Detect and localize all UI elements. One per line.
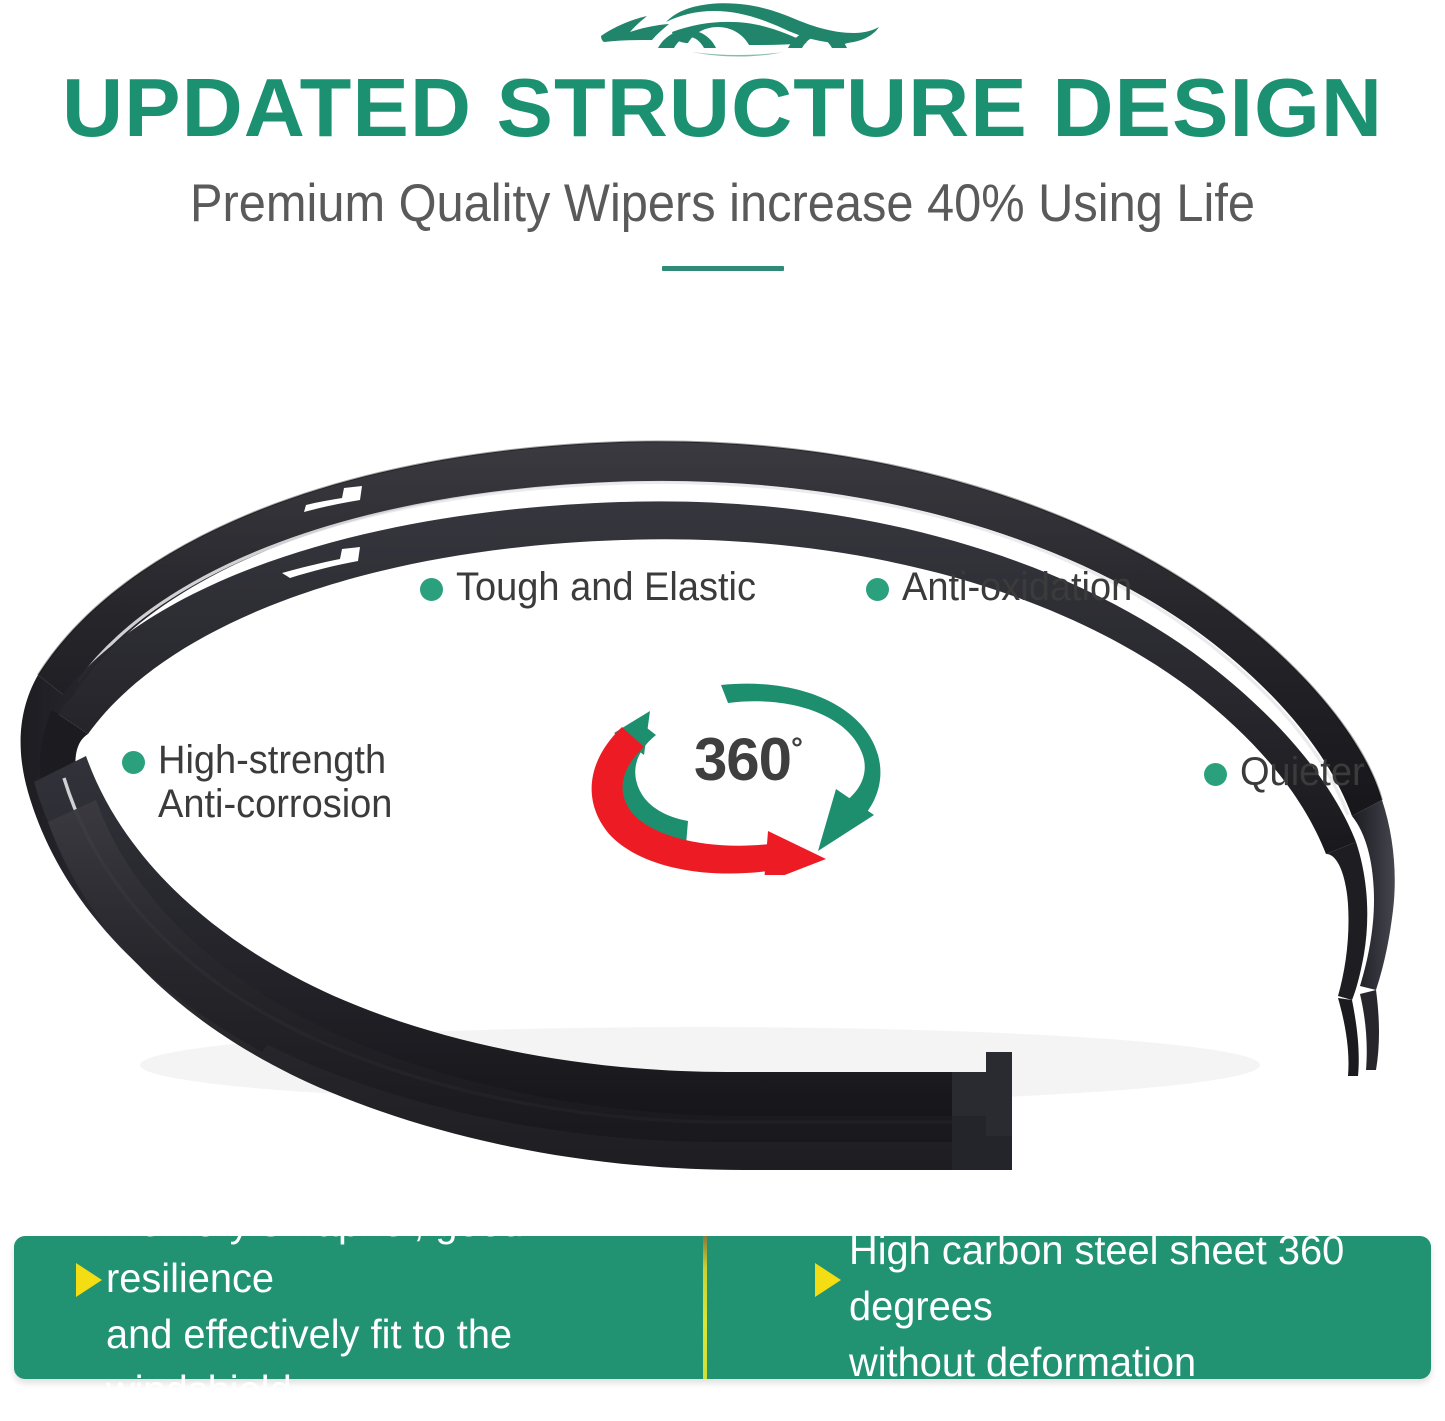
callout-label: Tough and Elastic: [456, 565, 756, 609]
page-title: UPDATED STRUCTURE DESIGN: [0, 62, 1445, 154]
callout-label: Anti-oxidation: [902, 565, 1132, 609]
page-subtitle: Premium Quality Wipers increase 40% Usin…: [58, 172, 1387, 236]
feature-banner: Memory shrapnel, good resilience and eff…: [14, 1236, 1431, 1379]
product-feature-infographic: UPDATED STRUCTURE DESIGN Premium Quality…: [0, 0, 1445, 1421]
banner-item-text: Memory shrapnel, good resilience and eff…: [106, 1194, 687, 1418]
callout-high-strength-anti-corrosion: High-strength Anti-corrosion: [122, 738, 405, 826]
degree-symbol: °: [791, 732, 802, 765]
bullet-dot-icon: [866, 578, 889, 601]
callout-quieter: Quieter: [1204, 750, 1371, 794]
bullet-dot-icon: [122, 751, 145, 774]
title-divider: [662, 266, 784, 271]
bullet-dot-icon: [1204, 763, 1227, 786]
triangle-bullet-icon: [76, 1263, 102, 1297]
banner-item-text: High carbon steel sheet 360 degrees with…: [849, 1222, 1397, 1390]
badge-number: 360: [694, 726, 791, 793]
banner-item-memory-shrapnel: Memory shrapnel, good resilience and eff…: [14, 1236, 723, 1379]
car-silhouette-icon: [592, 2, 880, 64]
banner-item-high-carbon-steel: High carbon steel sheet 360 degrees with…: [723, 1236, 1432, 1379]
callout-label: Quieter: [1240, 750, 1365, 794]
callout-tough-and-elastic: Tough and Elastic: [420, 565, 772, 609]
bullet-dot-icon: [420, 578, 443, 601]
banner-divider: [703, 1236, 707, 1379]
triangle-bullet-icon: [815, 1263, 841, 1297]
callout-anti-oxidation: Anti-oxidation: [866, 565, 1144, 609]
callout-label: High-strength Anti-corrosion: [158, 738, 392, 826]
badge-value: 360°: [578, 718, 918, 791]
rotation-360-badge: 360°: [578, 655, 918, 875]
